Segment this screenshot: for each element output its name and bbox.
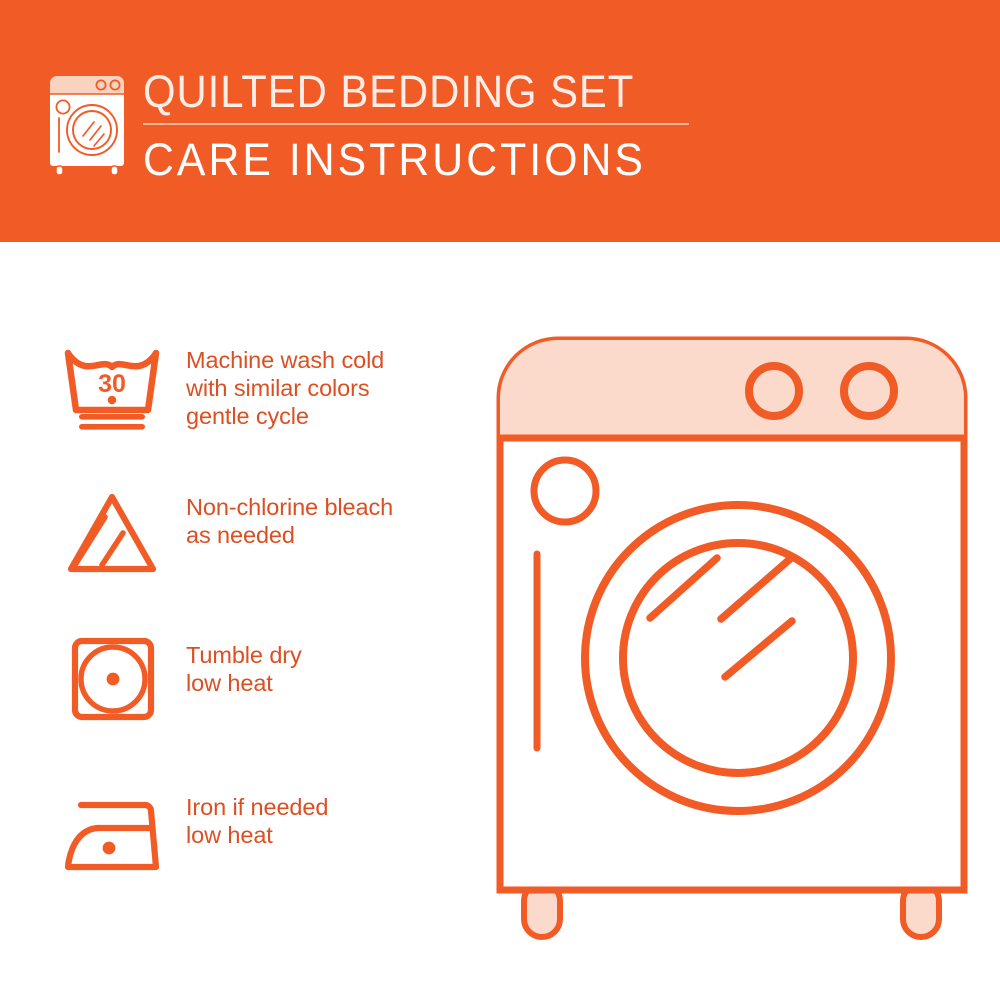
page-subtitle: CARE INSTRUCTIONS [143,135,675,185]
iron-low-heat-icon [48,787,176,879]
care-text-line: with similar colors [186,374,384,402]
washing-machine-logo-icon [44,72,136,176]
care-item-text: Machine wash cold with similar colors ge… [186,340,384,430]
care-instructions-infographic: QUILTED BEDDING SET CARE INSTRUCTIONS 30 [0,0,1000,1000]
care-item-iron: Iron if needed low heat [48,787,488,879]
care-text-line: Iron if needed [186,793,328,821]
header-title-block: QUILTED BEDDING SET CARE INSTRUCTIONS [143,66,703,185]
care-text-line: Tumble dry [186,641,302,669]
door-inner-ring [623,543,853,773]
care-item-tumble-dry: Tumble dry low heat [48,635,488,727]
care-instruction-list: 30 Machine wash cold with similar colors… [0,242,500,1000]
header-banner: QUILTED BEDDING SET CARE INSTRUCTIONS [0,0,1000,242]
non-chlorine-bleach-triangle-icon [48,487,176,579]
care-text-line: gentle cycle [186,402,384,430]
care-text-line: low heat [186,821,328,849]
front-load-washing-machine-illustration [478,318,998,943]
wash-temperature-label: 30 [98,370,126,398]
page-title: QUILTED BEDDING SET [143,66,664,118]
care-text-line: low heat [186,669,302,697]
care-item-machine-wash: 30 Machine wash cold with similar colors… [48,340,488,432]
care-text-line: as needed [186,521,393,549]
care-text-line: Non-chlorine bleach [186,493,393,521]
control-knob-2 [844,366,894,416]
care-item-text: Iron if needed low heat [186,787,328,849]
care-text-line: Machine wash cold [186,346,384,374]
care-item-bleach: Non-chlorine bleach as needed [48,487,488,579]
title-divider [143,123,689,125]
tumble-dry-low-heat-icon [48,635,176,727]
care-item-text: Tumble dry low heat [186,635,302,697]
wash-tub-30-gentle-icon: 30 [48,340,176,432]
indicator-light-icon [534,460,596,522]
care-item-text: Non-chlorine bleach as needed [186,487,393,549]
control-knob-1 [749,366,799,416]
